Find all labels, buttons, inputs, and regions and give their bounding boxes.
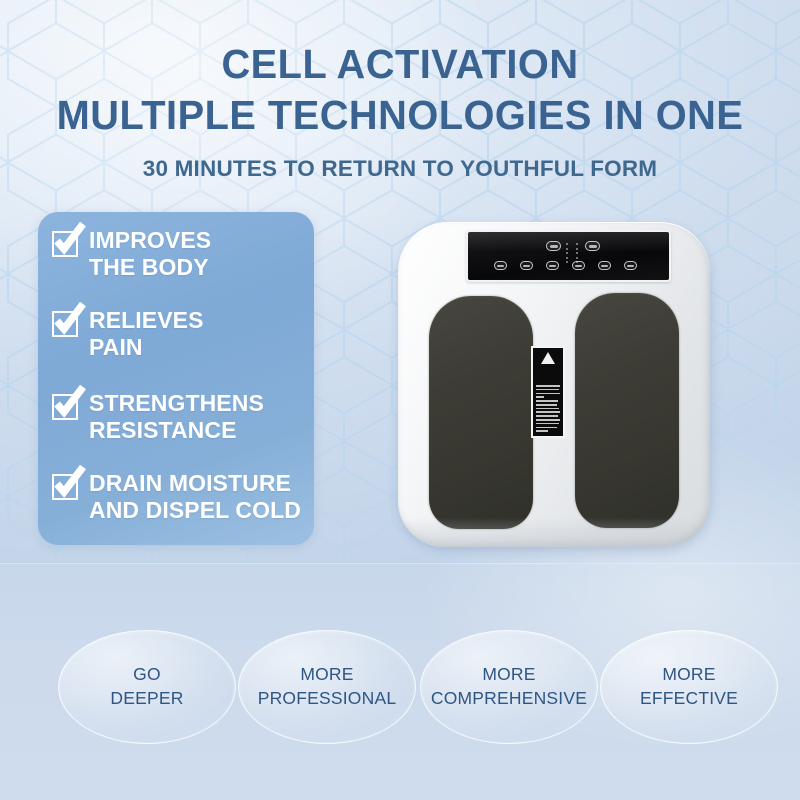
badge-label: GODEEPER bbox=[110, 663, 183, 710]
checkmark-icon bbox=[52, 474, 78, 500]
badge-more-comprehensive[interactable]: MORECOMPREHENSIVE bbox=[420, 630, 598, 744]
control-panel-glass bbox=[468, 232, 669, 280]
device-body bbox=[398, 222, 710, 547]
badge-label: MOREPROFESSIONAL bbox=[258, 663, 397, 710]
led-indicator-column-left bbox=[566, 243, 568, 266]
headline-line-2: MULTIPLE TECHNOLOGIES IN ONE bbox=[12, 95, 788, 136]
badge-label-line2: DEEPER bbox=[110, 688, 183, 708]
feature-label: IMPROVESTHE BODY bbox=[89, 227, 211, 280]
footpad-left bbox=[429, 296, 533, 529]
control-button-power[interactable] bbox=[585, 241, 600, 251]
badge-more-effective[interactable]: MOREEFFECTIVE bbox=[600, 630, 778, 744]
control-button-2[interactable] bbox=[520, 261, 533, 270]
control-button-3[interactable] bbox=[546, 261, 559, 270]
badge-label-line2: EFFECTIVE bbox=[640, 688, 738, 708]
checkmark-icon bbox=[52, 394, 78, 420]
feature-label: RELIEVESPAIN bbox=[89, 307, 204, 360]
feature-label-line2: PAIN bbox=[89, 334, 143, 360]
badge-label-line1: MORE bbox=[300, 664, 353, 684]
list-item: RELIEVESPAIN bbox=[52, 307, 204, 360]
badge-label: MOREEFFECTIVE bbox=[640, 663, 738, 710]
badge-label-line1: GO bbox=[133, 664, 161, 684]
page-subtitle: 30 MINUTES TO RETURN TO YOUTHFUL FORM bbox=[0, 156, 800, 182]
feature-label-line1: IMPROVES bbox=[89, 227, 211, 253]
badge-label-line1: MORE bbox=[662, 664, 715, 684]
footpad-right bbox=[575, 293, 679, 528]
control-button-5[interactable] bbox=[598, 261, 611, 270]
badge-label: MORECOMPREHENSIVE bbox=[431, 663, 587, 710]
control-button-6[interactable] bbox=[624, 261, 637, 270]
badge-more-professional[interactable]: MOREPROFESSIONAL bbox=[238, 630, 416, 744]
feature-label-line1: RELIEVES bbox=[89, 307, 204, 333]
promo-banner: CELL ACTIVATION MULTIPLE TECHNOLOGIES IN… bbox=[0, 0, 800, 800]
feature-label: STRENGTHENSRESISTANCE bbox=[89, 390, 264, 443]
badge-label-line1: MORE bbox=[482, 664, 535, 684]
list-item: DRAIN MOISTUREAND DISPEL COLD bbox=[52, 470, 301, 523]
list-item: STRENGTHENSRESISTANCE bbox=[52, 390, 264, 443]
feature-label-line1: STRENGTHENS bbox=[89, 390, 264, 416]
feature-list: IMPROVESTHE BODY RELIEVESPAIN STRENGTHEN… bbox=[38, 212, 358, 545]
page-title: CELL ACTIVATION MULTIPLE TECHNOLOGIES IN… bbox=[0, 44, 800, 136]
warning-label-text bbox=[536, 367, 560, 451]
feature-label-line2: RESISTANCE bbox=[89, 417, 237, 443]
badge-go-deeper[interactable]: GODEEPER bbox=[58, 630, 236, 744]
checkmark-icon bbox=[52, 231, 78, 257]
badge-label-line2: COMPREHENSIVE bbox=[431, 688, 587, 708]
product-image bbox=[398, 222, 710, 547]
headline-line-1: CELL ACTIVATION bbox=[12, 44, 788, 85]
feature-label-line2: AND DISPEL COLD bbox=[89, 497, 301, 523]
list-item: IMPROVESTHE BODY bbox=[52, 227, 211, 280]
warning-label bbox=[531, 346, 565, 438]
feature-label: DRAIN MOISTUREAND DISPEL COLD bbox=[89, 470, 301, 523]
warning-label-inner bbox=[533, 348, 563, 436]
control-panel bbox=[466, 230, 671, 282]
checkmark-icon bbox=[52, 311, 78, 337]
feature-label-line2: THE BODY bbox=[89, 254, 209, 280]
warning-triangle-icon bbox=[541, 352, 555, 364]
feature-label-line1: DRAIN MOISTURE bbox=[89, 470, 291, 496]
control-button-mode[interactable] bbox=[546, 241, 561, 251]
badge-label-line2: PROFESSIONAL bbox=[258, 688, 397, 708]
benefit-badges: GODEEPER MOREPROFESSIONAL MORECOMPREHENS… bbox=[0, 630, 800, 750]
control-button-1[interactable] bbox=[494, 261, 507, 270]
control-button-4[interactable] bbox=[572, 261, 585, 270]
